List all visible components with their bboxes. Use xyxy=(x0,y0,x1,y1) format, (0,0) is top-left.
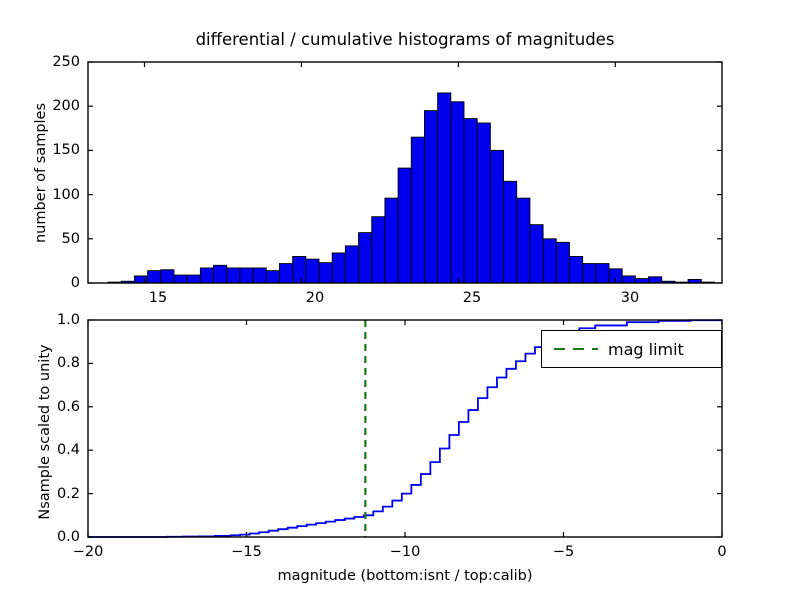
mag-limit-line-swatch-icon xyxy=(554,348,598,350)
matplotlib-figure: differential / cumulative histograms of … xyxy=(0,0,800,600)
cumulative-histogram-plot xyxy=(0,0,800,600)
legend: mag limit xyxy=(541,330,722,368)
legend-label-mag-limit: mag limit xyxy=(608,340,700,359)
